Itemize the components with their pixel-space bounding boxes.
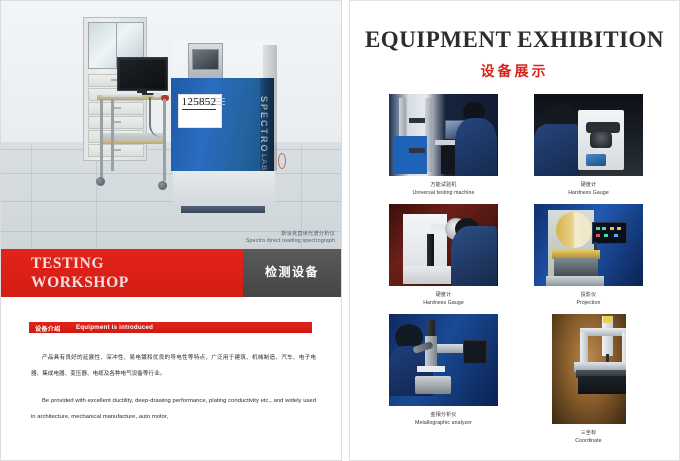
utm-blue-panel — [393, 136, 427, 174]
intro-heading-en: Equipment is introduced — [76, 324, 153, 331]
readout-digit — [614, 234, 618, 237]
hardness-gauge-photo — [389, 204, 498, 286]
cabinet-drawer — [88, 144, 144, 157]
floor-line — [1, 201, 341, 202]
cabinet-drawer — [88, 102, 144, 115]
floor-line — [1, 173, 341, 174]
projector-lower-housing — [554, 258, 598, 278]
projector-readout-panel — [592, 222, 627, 244]
caption-cn: 投影仪 — [531, 292, 646, 300]
equipment-caption: 三坐标 Coordinate — [531, 430, 646, 445]
microscope-stage — [417, 366, 445, 372]
banner-title: TESTING WORKSHOP — [31, 254, 129, 292]
photo-caption-en: Spectro direct reading spectrograph — [246, 238, 335, 245]
microscope-column — [425, 336, 437, 366]
readout-digit — [596, 227, 600, 230]
cart-mid-rail — [100, 139, 166, 144]
equipment-caption: 硬度计 Hardness Gauge — [531, 182, 646, 197]
equipment-card[interactable]: 金相分析仪 Metallographic analyzer — [386, 314, 501, 427]
microscope-display-box — [463, 340, 487, 364]
testing-workshop-banner: TESTING WORKSHOP 检测设备 — [1, 249, 341, 297]
caption-cn: 硬度计 — [531, 182, 646, 190]
equipment-caption: 投影仪 Projection — [531, 292, 646, 307]
equipment-card[interactable]: 硬度计 Hardness Gauge — [531, 94, 646, 197]
cable-bundle — [149, 97, 165, 137]
readout-digit — [596, 234, 600, 237]
spectrograph-plinth — [181, 206, 265, 213]
cart-leg — [111, 99, 114, 171]
asset-number: 125852 — [179, 96, 219, 108]
equipment-caption: 金相分析仪 Metallographic analyzer — [386, 412, 501, 427]
caption-en: Hardness Gauge — [386, 300, 501, 308]
caption-en: Coordinate — [531, 438, 646, 446]
banner-title-line1: TESTING — [31, 254, 129, 273]
equipment-card[interactable]: 三坐标 Coordinate — [531, 314, 646, 445]
computer-monitor — [117, 57, 168, 91]
caption-en: Projection — [531, 300, 646, 308]
utm-crosshead — [409, 148, 425, 153]
lab-photo: 125852 SPECTROLAB 斯派克直读光谱分析仪 Spectro dir… — [1, 1, 341, 249]
cart-leg — [100, 99, 103, 179]
spectrograph-blue-panel: 125852 SPECTROLAB — [171, 78, 274, 171]
utm-crosshead — [409, 118, 425, 123]
intro-heading-bar: 设备介绍 Equipment is introduced — [29, 322, 312, 333]
equipment-card[interactable]: 投影仪 Projection — [531, 204, 646, 307]
gauge-base — [403, 266, 453, 284]
spectrograph-side-shadow — [263, 45, 277, 171]
catalog-spread: 125852 SPECTROLAB 斯派克直读光谱分析仪 Spectro dir… — [0, 0, 680, 461]
caption-en: Universal testing machine — [386, 190, 501, 198]
hardness-gauge-photo — [534, 94, 643, 176]
operator-body — [451, 226, 497, 286]
cmm-yellow-marker — [603, 316, 612, 323]
intro-heading-cn: 设备介绍 — [35, 324, 61, 333]
floor-line — [31, 143, 32, 249]
left-page: 125852 SPECTROLAB 斯派克直读光谱分析仪 Spectro dir… — [0, 0, 342, 461]
projector-screen — [556, 212, 592, 248]
photo-caption-cn: 斯派克直读光谱分析仪 — [246, 231, 335, 238]
right-page: EQUIPMENT EXHIBITION 设备展示 万能 — [349, 0, 680, 461]
microscope-base — [415, 376, 451, 394]
metallographic-analyzer-photo — [389, 314, 498, 406]
asset-number-underline — [182, 109, 216, 110]
monitor-screen — [120, 60, 165, 88]
keyboard — [102, 93, 142, 97]
operator-body — [534, 124, 580, 176]
projector-base — [546, 276, 604, 286]
equipment-caption: 硬度计 Hardness Gauge — [386, 292, 501, 307]
cmm-cabinet — [578, 376, 626, 394]
cabinet-drawer — [88, 116, 144, 129]
caption-cn: 金相分析仪 — [386, 412, 501, 420]
banner-title-line2: WORKSHOP — [31, 273, 129, 292]
cart-caster — [158, 181, 167, 190]
banner-title-cn: 检测设备 — [247, 263, 337, 280]
spectrograph-base — [173, 171, 275, 209]
intro-body-cn: 产品具有良好的延展性、深冲性、易电镀和优良的导电性等特点，广泛用于建筑、机械制造… — [31, 350, 316, 382]
caption-cn: 万能试验机 — [386, 182, 501, 190]
readout-digit — [617, 227, 621, 230]
projection-machine-photo — [534, 204, 643, 286]
intro-body-en: Be provided with excellent ductility, de… — [31, 393, 316, 425]
caption-cn: 三坐标 — [531, 430, 646, 438]
exhibition-subtitle: 设备展示 — [350, 61, 679, 81]
universal-testing-machine-photo — [389, 94, 498, 176]
photo-caption: 斯派克直读光谱分析仪 Spectro direct reading spectr… — [246, 231, 335, 245]
exhibition-title: EQUIPMENT EXHIBITION — [350, 27, 679, 53]
equipment-card[interactable]: 万能试验机 Universal testing machine — [386, 94, 501, 197]
spectrograph-display — [192, 49, 219, 70]
equipment-caption: 万能试验机 Universal testing machine — [386, 182, 501, 197]
readout-digit — [602, 227, 606, 230]
caption-en: Hardness Gauge — [531, 190, 646, 198]
red-cord — [278, 153, 286, 169]
coordinate-machine-photo — [552, 314, 626, 424]
gauge-control-panel — [586, 154, 606, 166]
readout-digit — [604, 234, 608, 237]
caption-en: Metallographic analyzer — [386, 420, 501, 428]
caption-cn: 硬度计 — [386, 292, 501, 300]
gauge-post — [427, 234, 434, 268]
gauge-turret — [590, 132, 612, 148]
operator-body — [455, 118, 497, 176]
equipment-card[interactable]: 硬度计 Hardness Gauge — [386, 204, 501, 307]
readout-digit — [610, 227, 614, 230]
cart-caster — [96, 177, 105, 186]
